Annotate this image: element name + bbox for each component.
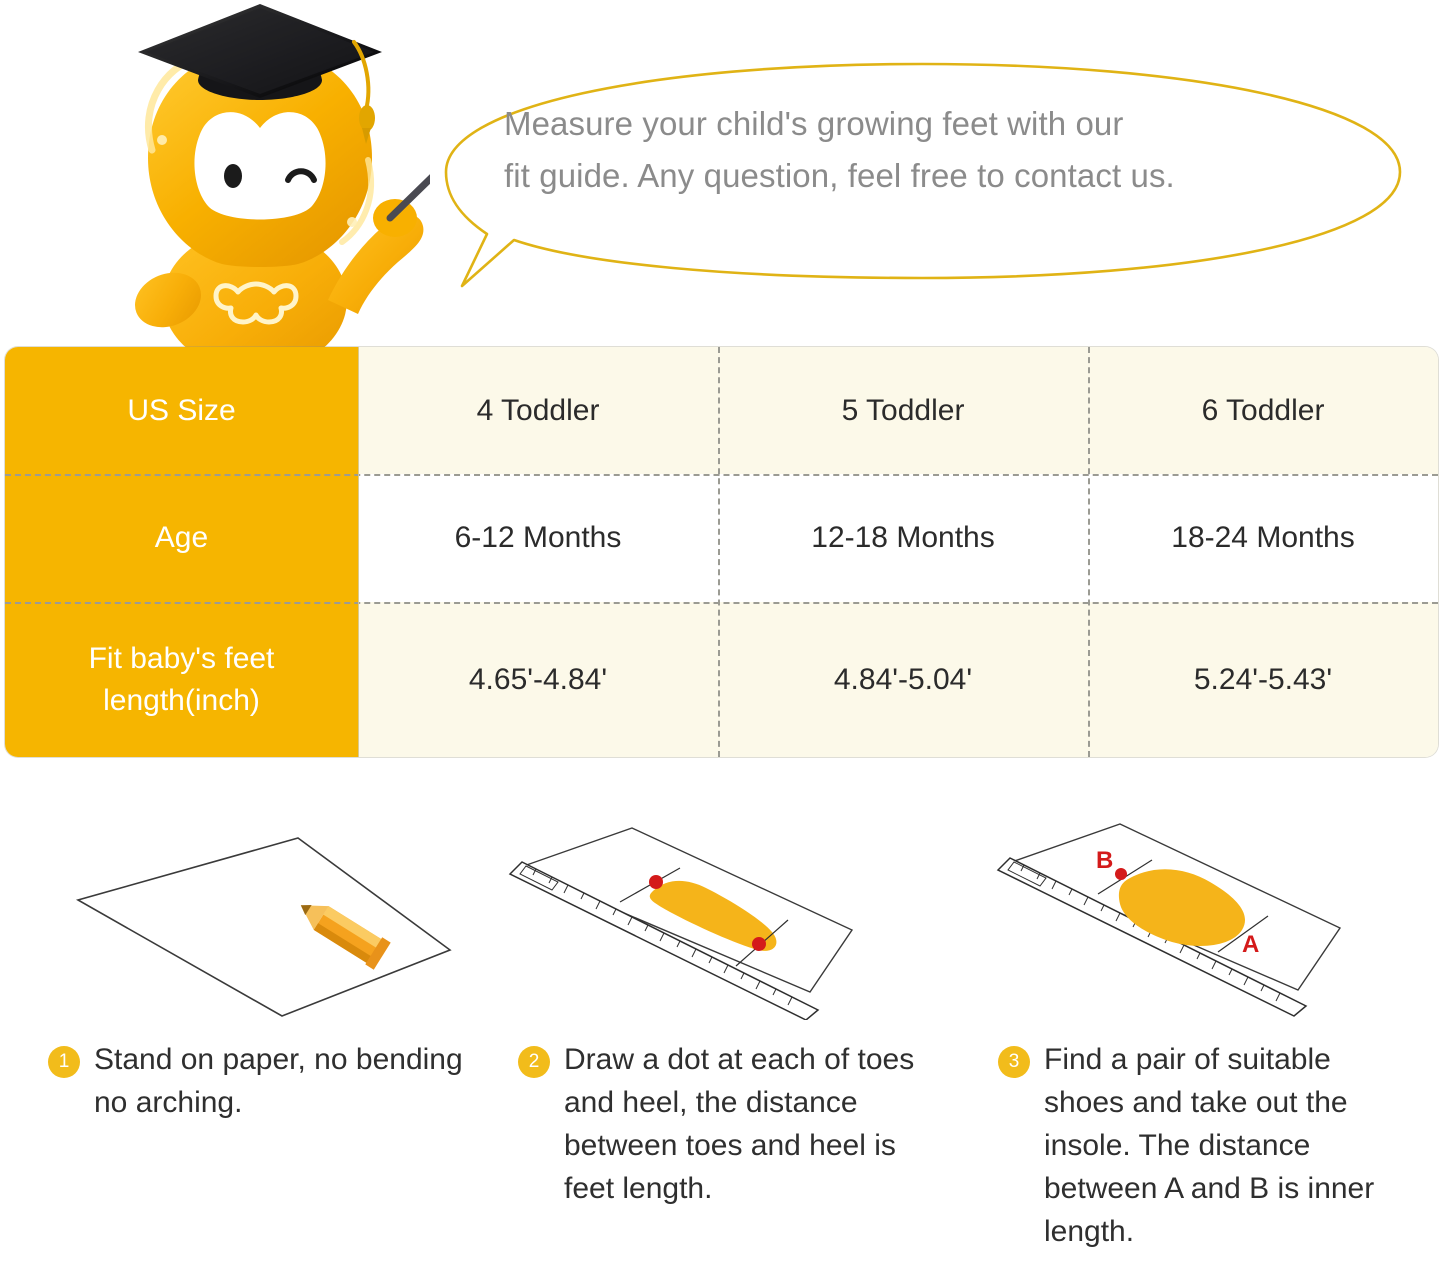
row-header-label-line1: Fit baby's feet [89,638,275,680]
cell-us-size-col2: 5 Toddler [718,347,1088,474]
row-header-feet-length: Fit baby's feet length(inch) [5,602,358,757]
marker-a-label: A [1242,931,1259,958]
step-text: Stand on paper, no bending no arching. [94,1038,468,1124]
cell-value: 4.65'-4.84' [469,663,607,697]
step-1-caption: 1 Stand on paper, no bending no arching. [48,1038,468,1124]
cell-us-size-col3: 6 Toddler [1088,347,1438,474]
cell-value: 4 Toddler [477,394,600,428]
size-chart-table: US Size 4 Toddler 5 Toddler 6 Toddler Ag… [5,347,1438,757]
cell-value: 6-12 Months [455,521,622,555]
measure-steps: 1 Stand on paper, no bending no arching. [0,820,1445,1267]
step-1-illustration [30,820,490,1020]
row-header-label-line2: length(inch) [103,680,260,722]
speech-bubble: Measure your child's growing feet with o… [432,58,1417,293]
cell-feet-length-col1: 4.65'-4.84' [358,602,718,757]
cell-value: 12-18 Months [811,521,994,555]
mascot-illustration [90,0,430,350]
row-header-age: Age [5,474,358,602]
mascot-svg [90,0,430,350]
step-3: B A 3 Find a pair of suitable shoes and … [980,820,1440,1267]
cell-age-col2: 12-18 Months [718,474,1088,602]
speech-line-1: Measure your child's growing feet with o… [504,105,1123,142]
step-text: Find a pair of suitable shoes and take o… [1044,1038,1418,1253]
step-3-illustration: B A [980,820,1440,1020]
marker-b-label: B [1096,847,1113,874]
step-number-badge: 3 [998,1046,1030,1078]
speech-line-2: fit guide. Any question, feel free to co… [504,150,1304,202]
step-1: 1 Stand on paper, no bending no arching. [30,820,490,1267]
step-number-badge: 2 [518,1046,550,1078]
step-2: 2 Draw a dot at each of toes and heel, t… [500,820,960,1267]
cell-value: 4.84'-5.04' [834,663,972,697]
paper-icon [78,838,450,1016]
row-header-label: US Size [127,390,235,432]
step-text: Draw a dot at each of toes and heel, the… [564,1038,938,1210]
step-3-caption: 3 Find a pair of suitable shoes and take… [998,1038,1418,1253]
cell-age-col1: 6-12 Months [358,474,718,602]
cell-value: 6 Toddler [1202,394,1325,428]
heel-dot-marker [752,937,766,951]
step-2-caption: 2 Draw a dot at each of toes and heel, t… [518,1038,938,1210]
row-header-label: Age [155,517,208,559]
step-number-badge: 1 [48,1046,80,1078]
cell-feet-length-col3: 5.24'-5.43' [1088,602,1438,757]
cell-value: 18-24 Months [1171,521,1354,555]
cell-feet-length-col2: 4.84'-5.04' [718,602,1088,757]
cell-us-size-col1: 4 Toddler [358,347,718,474]
toe-dot-marker [649,875,663,889]
cell-value: 5.24'-5.43' [1194,663,1332,697]
cell-value: 5 Toddler [842,394,965,428]
row-header-us-size: US Size [5,347,358,474]
cell-age-col3: 18-24 Months [1088,474,1438,602]
step-2-illustration [500,820,960,1020]
eye-open-icon [224,164,242,188]
b-dot-marker [1115,868,1127,880]
speech-bubble-text: Measure your child's growing feet with o… [504,98,1304,202]
